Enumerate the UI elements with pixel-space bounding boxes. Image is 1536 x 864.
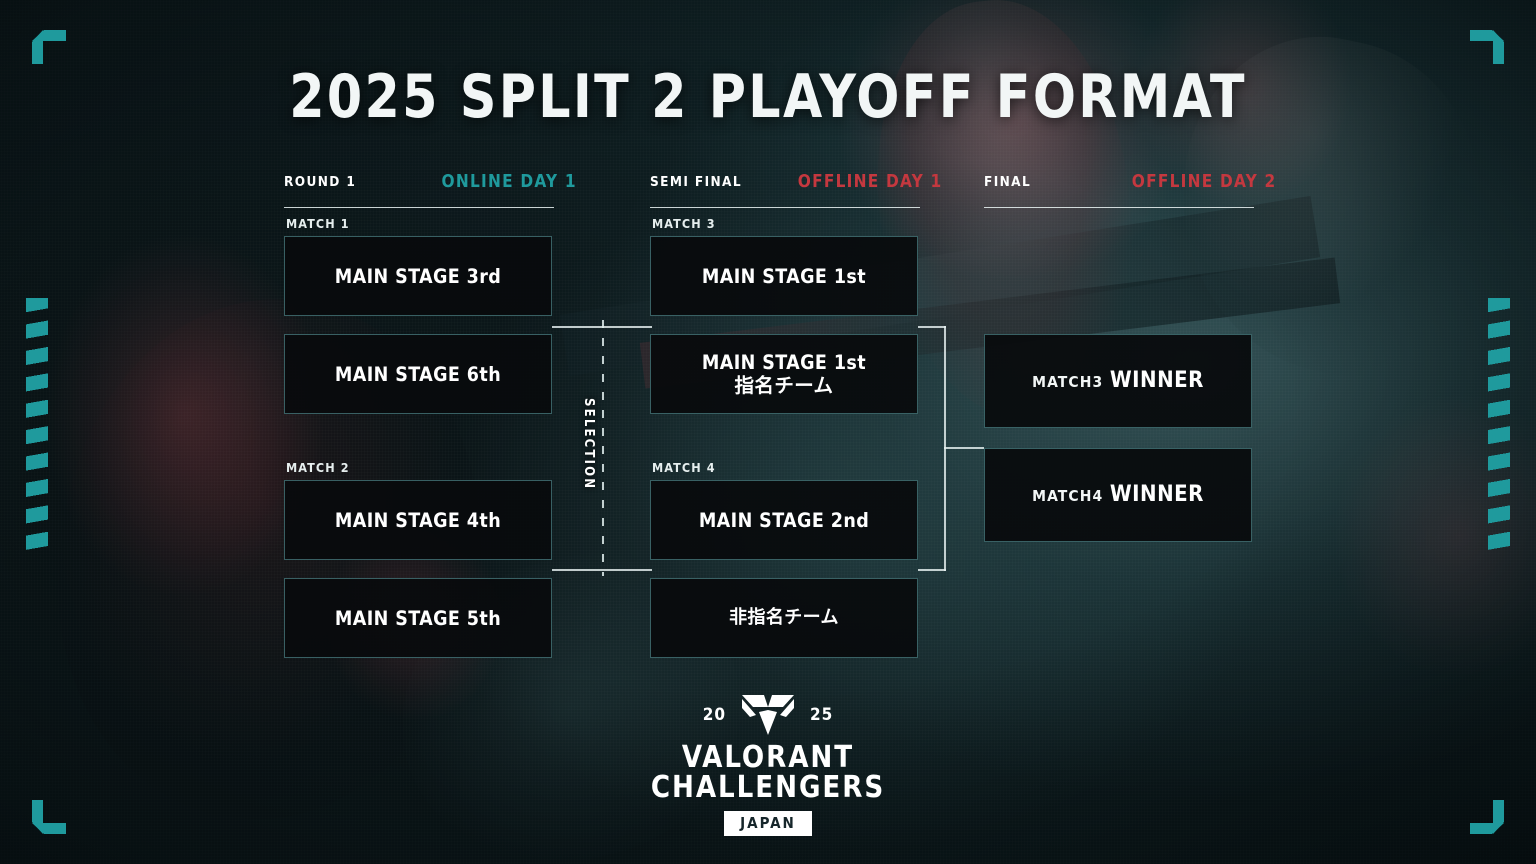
match-label-match-3: MATCH 3: [652, 216, 716, 231]
bracket-column-final: FINAL OFFLINE DAY 2 MATCH3 WINNER MATCH4…: [984, 172, 1286, 208]
column-day-label: OFFLINE DAY 2: [1132, 171, 1277, 192]
bracket-slot-match3-team1: MAIN STAGE 1st: [650, 236, 918, 316]
column-header-rule: [650, 207, 920, 208]
logo-wordmark-line-2: CHALLENGERS: [23, 773, 1513, 804]
column-stage-label: FINAL: [984, 174, 1031, 190]
column-header-rule: [284, 207, 554, 208]
column-stage-label: ROUND 1: [284, 174, 356, 190]
slot-text-line-2: 指名チーム: [702, 374, 866, 397]
slot-text-two-line: MAIN STAGE 1st 指名チーム: [702, 351, 866, 397]
slot-text: MAIN STAGE 3rd: [335, 265, 502, 288]
finalist-prefix: MATCH4: [1032, 487, 1103, 505]
logo-year-left: 20: [703, 705, 726, 725]
slot-text: MAIN STAGE 4th: [335, 509, 501, 532]
column-header-rule: [984, 207, 1254, 208]
slot-text: 非指名チーム: [729, 607, 839, 628]
slot-text: MAIN STAGE 5th: [335, 607, 501, 630]
match-label-match-1: MATCH 1: [286, 216, 350, 231]
slot-text-line-1: MAIN STAGE 1st: [702, 351, 866, 374]
bracket-slot-match3-team2: MAIN STAGE 1st 指名チーム: [650, 334, 918, 414]
selection-label: SELECTION: [581, 398, 596, 490]
bracket-column-round-1: ROUND 1 ONLINE DAY 1 MATCH 1 MAIN STAGE …: [284, 172, 586, 208]
column-header-semi-final: SEMI FINAL OFFLINE DAY 1: [650, 172, 952, 208]
match-label-match-4: MATCH 4: [652, 460, 716, 475]
bracket-slot-match1-team1: MAIN STAGE 3rd: [284, 236, 552, 316]
connector-semi-to-final-top: [918, 326, 946, 328]
finalist-suffix: WINNER: [1110, 368, 1204, 393]
bracket-slot-match4-team1: MAIN STAGE 2nd: [650, 480, 918, 560]
selection-dashed-line: [602, 320, 604, 576]
slot-text-composite: MATCH4 WINNER: [1032, 482, 1204, 508]
valorant-challengers-logo: 20 25 VALORANT CHALLENGERS JAPAN: [0, 693, 1536, 836]
bracket-slot-match4-team2: 非指名チーム: [650, 578, 918, 658]
slot-text-composite: MATCH3 WINNER: [1032, 368, 1204, 394]
connector-semi-to-final-bottom: [918, 569, 946, 571]
finalist-prefix: MATCH3: [1032, 373, 1103, 391]
logo-region-badge: JAPAN: [724, 811, 812, 836]
column-header-final: FINAL OFFLINE DAY 2: [984, 172, 1286, 208]
valorant-v-icon: [740, 693, 796, 737]
bracket-column-semi-final: SEMI FINAL OFFLINE DAY 1 MATCH 3 MAIN ST…: [650, 172, 952, 208]
bracket-slot-final-team2: MATCH4 WINNER: [984, 448, 1252, 542]
bracket-slot-match2-team2: MAIN STAGE 5th: [284, 578, 552, 658]
connector-semi-to-final-stub: [944, 447, 984, 449]
slot-text: MAIN STAGE 6th: [335, 363, 501, 386]
bracket-slot-final-team1: MATCH3 WINNER: [984, 334, 1252, 428]
logo-mark-row: 20 25: [0, 693, 1536, 737]
logo-year-right: 25: [810, 705, 833, 725]
bracket-slot-match1-team2: MAIN STAGE 6th: [284, 334, 552, 414]
bracket-slot-match2-team1: MAIN STAGE 4th: [284, 480, 552, 560]
logo-wordmark-line-1: VALORANT: [23, 743, 1513, 774]
finalist-suffix: WINNER: [1110, 482, 1204, 507]
column-day-label: ONLINE DAY 1: [441, 171, 576, 192]
column-stage-label: SEMI FINAL: [650, 174, 742, 190]
slot-text: MAIN STAGE 1st: [702, 265, 866, 288]
slot-text: MAIN STAGE 2nd: [699, 509, 869, 532]
match-label-match-2: MATCH 2: [286, 460, 350, 475]
column-day-label: OFFLINE DAY 1: [798, 171, 943, 192]
column-header-round-1: ROUND 1 ONLINE DAY 1: [284, 172, 586, 208]
